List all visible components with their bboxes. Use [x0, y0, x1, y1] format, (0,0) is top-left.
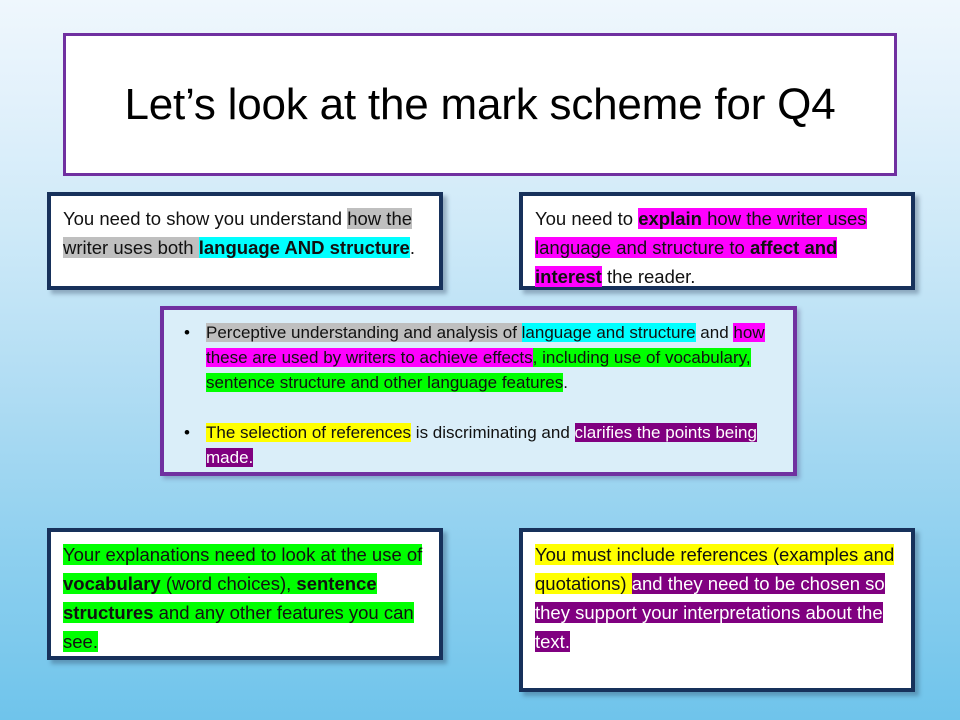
- text-segment-highlighted-magenta: explain: [638, 208, 702, 229]
- list-item-text: Perceptive understanding and analysis of…: [206, 320, 785, 395]
- list-item: • Perceptive understanding and analysis …: [176, 320, 785, 395]
- text-segment: the reader.: [602, 266, 696, 287]
- list-item: • The selection of references is discrim…: [176, 420, 785, 470]
- list-item-text: The selection of references is discrimin…: [206, 420, 785, 470]
- text-segment: You need to: [535, 208, 638, 229]
- text-segment: .: [563, 373, 568, 392]
- text-segment-highlighted-cyan: language and structure: [522, 323, 696, 342]
- text-segment: .: [410, 237, 415, 258]
- callout-text: You need to show you understand how the …: [63, 204, 429, 262]
- text-segment-highlighted-gray: Perceptive understanding and analysis of: [206, 323, 522, 342]
- bullet-icon: •: [176, 420, 206, 445]
- callout-explain-affect-and-interest: You need to explain how the writer uses …: [519, 192, 915, 290]
- mark-scheme-criteria-panel: • Perceptive understanding and analysis …: [160, 306, 797, 476]
- text-segment-highlighted-green: vocabulary: [63, 573, 161, 594]
- bullet-icon: •: [176, 320, 206, 345]
- text-segment: You need to show you understand: [63, 208, 347, 229]
- text-segment: and: [696, 323, 734, 342]
- text-segment-highlighted-green: Your explanations need to look at the us…: [63, 544, 422, 565]
- callout-references-support-interpretations: You must include references (examples an…: [519, 528, 915, 692]
- callout-explanations-vocabulary-structures: Your explanations need to look at the us…: [47, 528, 443, 660]
- callout-text: You must include references (examples an…: [535, 540, 901, 656]
- callout-text: You need to explain how the writer uses …: [535, 204, 901, 291]
- callout-text: Your explanations need to look at the us…: [63, 540, 429, 656]
- text-segment: is discriminating and: [411, 423, 574, 442]
- list-item-continuation: [176, 395, 785, 420]
- page-title: Let’s look at the mark scheme for Q4: [125, 80, 836, 130]
- text-segment-highlighted-green: (word choices),: [161, 573, 297, 594]
- slide-title-box: Let’s look at the mark scheme for Q4: [63, 33, 897, 176]
- callout-understand-language-and-structure: You need to show you understand how the …: [47, 192, 443, 290]
- text-segment-highlighted-yellow: The selection of references: [206, 423, 411, 442]
- text-segment-highlighted-cyan: language AND structure: [199, 237, 410, 258]
